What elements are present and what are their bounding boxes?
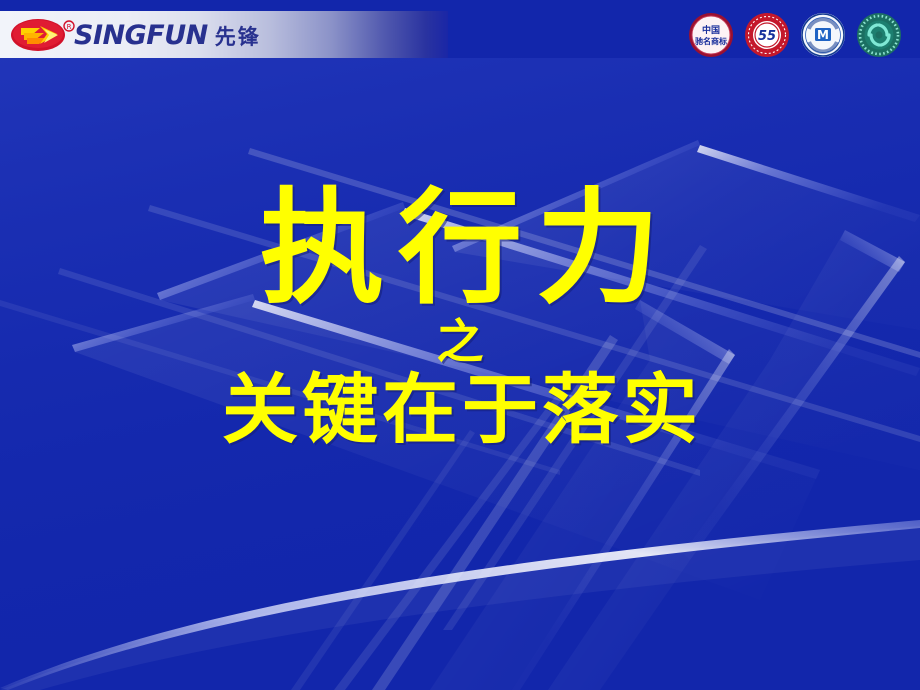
slide-title-block: 执行力 之 关键在于落实 <box>0 186 920 450</box>
slide-title-connector: 之 <box>0 318 920 367</box>
m-certification-badge: M <box>800 12 846 58</box>
red-emblem-badge: 55 <box>744 12 790 58</box>
badge-line1: 中国 <box>702 24 720 36</box>
certification-badge-group: 中国 驰名商标 55 M <box>688 12 902 58</box>
brand-wordmark: SINGFUN 先锋 <box>74 22 261 49</box>
singfun-flame-arrow-logo <box>10 18 66 52</box>
china-famous-trademark-badge: 中国 驰名商标 <box>688 12 734 58</box>
svg-text:R: R <box>67 23 72 31</box>
badge-line2: 驰名商标 <box>695 36 727 46</box>
presentation-slide: R SINGFUN 先锋 中国 驰名商标 55 <box>0 0 920 690</box>
slide-title-subtitle: 关键在于落实 <box>0 370 920 450</box>
green-swirl-badge <box>856 12 902 58</box>
badge-glyph: 55 <box>758 29 776 44</box>
brand-latin-name: SINGFUN <box>74 22 208 49</box>
registered-trademark-icon: R <box>63 17 75 29</box>
brand-logo: R SINGFUN 先锋 <box>10 16 278 54</box>
badge-glyph: M <box>817 28 829 42</box>
brand-chinese-name: 先锋 <box>215 27 261 48</box>
slide-title-main: 执行力 <box>0 186 920 312</box>
